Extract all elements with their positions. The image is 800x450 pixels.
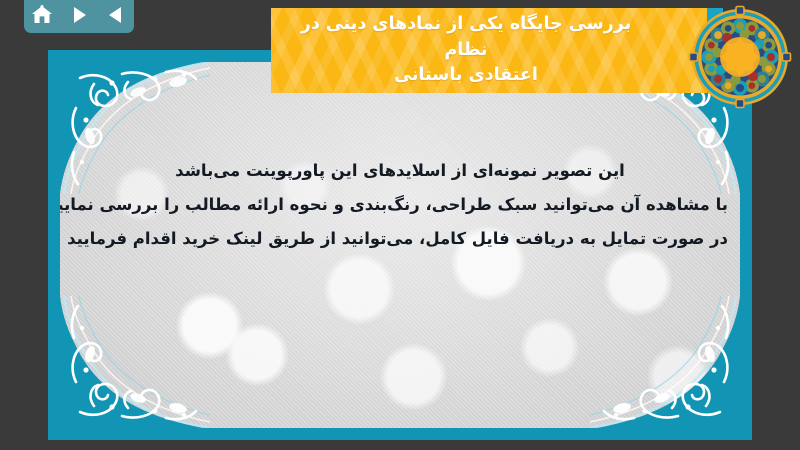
- slide-body-text: این تصویر نمونه‌ای از اسلایدهای این پاور…: [72, 154, 728, 256]
- navigation-bar: [24, 0, 134, 33]
- triangle-right-icon: [68, 4, 90, 26]
- arabesque-corner-bottom-right: [590, 296, 740, 428]
- arabesque-corner-bottom-left: [60, 296, 210, 428]
- home-icon: [30, 4, 54, 26]
- persian-medallion-icon: [688, 5, 792, 109]
- slide-canvas: این تصویر نمونه‌ای از اسلایدهای این پاور…: [60, 62, 740, 428]
- body-line-2: با مشاهده آن می‌توانید سبک طراحی، رنگ‌بن…: [72, 188, 728, 222]
- presentation-viewer: این تصویر نمونه‌ای از اسلایدهای این پاور…: [0, 0, 800, 450]
- triangle-left-icon: [105, 4, 127, 26]
- page-title: بررسی جایگاه یکی از نمادهای دینی در نظام…: [271, 12, 707, 88]
- body-line-3: در صورت تمایل به دریافت فایل کامل، می‌تو…: [72, 222, 728, 256]
- slide-title-banner: بررسی جایگاه یکی از نمادهای دینی در نظام…: [271, 8, 723, 93]
- prev-button[interactable]: [101, 2, 131, 28]
- banner-body: بررسی جایگاه یکی از نمادهای دینی در نظام…: [271, 8, 707, 93]
- body-line-1: این تصویر نمونه‌ای از اسلایدهای این پاور…: [72, 154, 728, 188]
- next-button[interactable]: [64, 2, 94, 28]
- slide-frame: این تصویر نمونه‌ای از اسلایدهای این پاور…: [48, 50, 752, 440]
- home-button[interactable]: [27, 2, 57, 28]
